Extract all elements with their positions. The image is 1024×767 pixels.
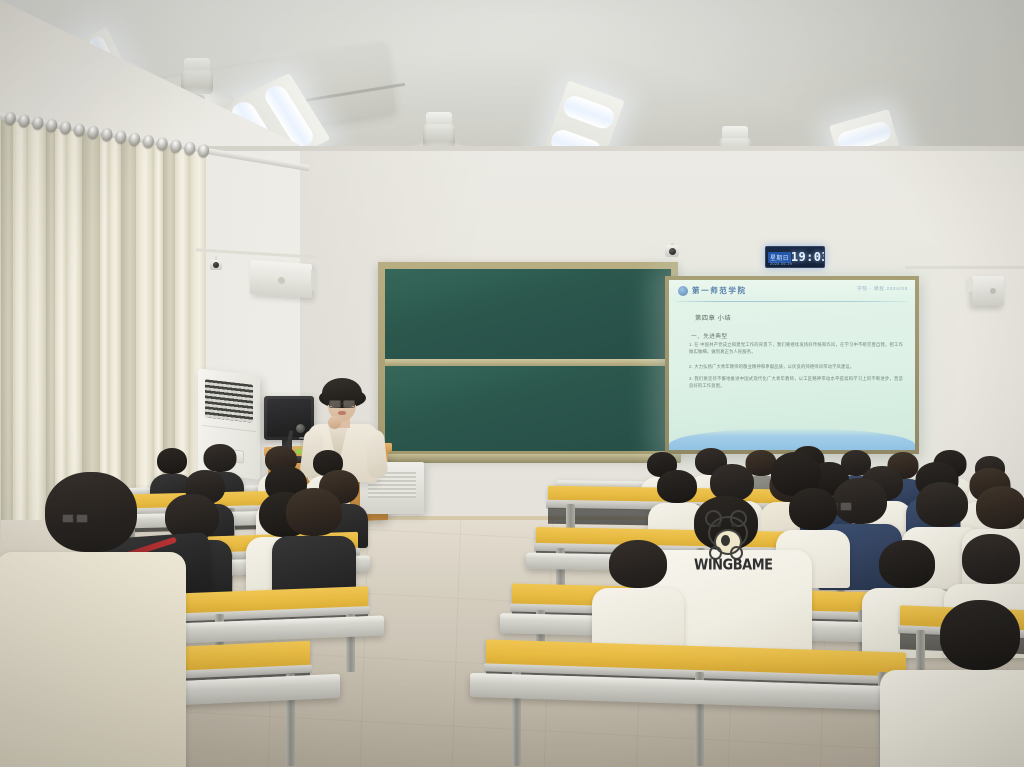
tshirt-text: WINGBAME (694, 557, 758, 574)
student (0, 472, 186, 767)
student-head (879, 540, 935, 588)
clock-time: 19:03 (791, 250, 825, 264)
slide-section-heading: 一、先进典型 (691, 332, 728, 340)
curtain-grommet (100, 127, 113, 142)
speaker-driver (278, 277, 285, 284)
curtain-grommet (73, 123, 86, 138)
eyeglasses-icon (62, 514, 88, 521)
light-tube (560, 93, 617, 132)
bear-nose (721, 535, 730, 546)
blackboard-panel-lower (385, 366, 671, 451)
student-head (940, 600, 1020, 670)
curtain-grommet (114, 129, 127, 144)
curtain-grommet (18, 113, 31, 128)
curtain-grommet (45, 118, 58, 133)
slide-paragraph: 3. 我们要坚持不懈地推进中国式现代化广大青年教师，以工匠精神带动水平提高和学习… (689, 376, 903, 389)
slide-paragraph: 1. 在 中国共产党成立和建党工作的背景下，我们要继续发扬好传统和作风，在学习中… (689, 342, 903, 355)
student (272, 488, 356, 600)
presentation-slide: 第一师范学院 学院 · 课程 2024/05 第四章 小结 一、先进典型 1. … (669, 280, 915, 450)
curtain-grommet (197, 143, 210, 158)
student-head (45, 472, 137, 552)
digital-wall-clock: 星期日 2024.05.19 19:03 (765, 246, 825, 268)
eyeglasses-icon (329, 400, 355, 406)
slide-paragraph: 2. 大力弘扬广大青年教师的敬业精神和奉献品质，以优良的师德师风带动学风建设。 (689, 364, 903, 371)
slide-title: 第四章 小结 (695, 313, 731, 322)
tshirt-graphic: WINGBAME (694, 510, 758, 576)
camera-lens (669, 248, 676, 255)
clock-date-label: 2024.05.19 (770, 261, 792, 266)
wall-speaker (250, 260, 312, 298)
bear-eye (731, 523, 737, 527)
blackboard-panel-upper (385, 269, 671, 359)
ac-vent-grille (205, 379, 253, 422)
slide-header-rule (677, 301, 907, 302)
student-head (976, 486, 1024, 529)
security-camera-icon (208, 256, 224, 272)
curtain-grommet (128, 132, 141, 147)
curtain-grommet (4, 111, 17, 126)
slide-corner-label: 学院 · 课程 2024/05 (857, 286, 908, 292)
classroom-photo: 第一师范学院 学院 · 课程 2024/05 第四章 小结 一、先进典型 1. … (0, 0, 1024, 767)
bear-eye (715, 523, 721, 527)
ac-seam (202, 425, 256, 432)
university-logo-icon (678, 286, 688, 296)
blackboard-divider-rail (385, 359, 671, 366)
curtain-grommet (142, 134, 155, 149)
student-head (609, 540, 667, 588)
student-head (916, 482, 968, 527)
curtain-grommet (87, 125, 100, 140)
curtain-grommet (31, 116, 44, 131)
student-head (204, 444, 237, 472)
right-wall-rail (905, 266, 1024, 269)
speaker-bracket (965, 279, 973, 294)
wall-speaker (972, 276, 1004, 306)
instructor-hand (328, 416, 341, 429)
cartoon-bear-icon (704, 510, 748, 556)
security-camera-icon (662, 243, 682, 259)
curtain-grommet (169, 139, 182, 154)
curtain-grommet (156, 136, 169, 151)
wall-ceiling-trim (178, 146, 1024, 151)
student (592, 540, 684, 660)
speaker-bracket (311, 270, 317, 290)
instructor-mouth (338, 411, 346, 415)
curtain-grommet (183, 141, 196, 156)
student-torso (880, 670, 1024, 767)
blackboard-surface (385, 269, 671, 451)
curtain-grommet (59, 120, 72, 135)
student-head (962, 534, 1020, 584)
slide-university-name: 第一师范学院 (692, 285, 747, 296)
student (880, 600, 1024, 767)
student-torso (0, 552, 186, 767)
speaker-driver (990, 288, 996, 294)
projection-screen: 第一师范学院 学院 · 课程 2024/05 第四章 小结 一、先进典型 1. … (665, 276, 919, 454)
camera-lens (213, 262, 219, 268)
blackboard (378, 262, 678, 458)
student-head (286, 488, 342, 536)
